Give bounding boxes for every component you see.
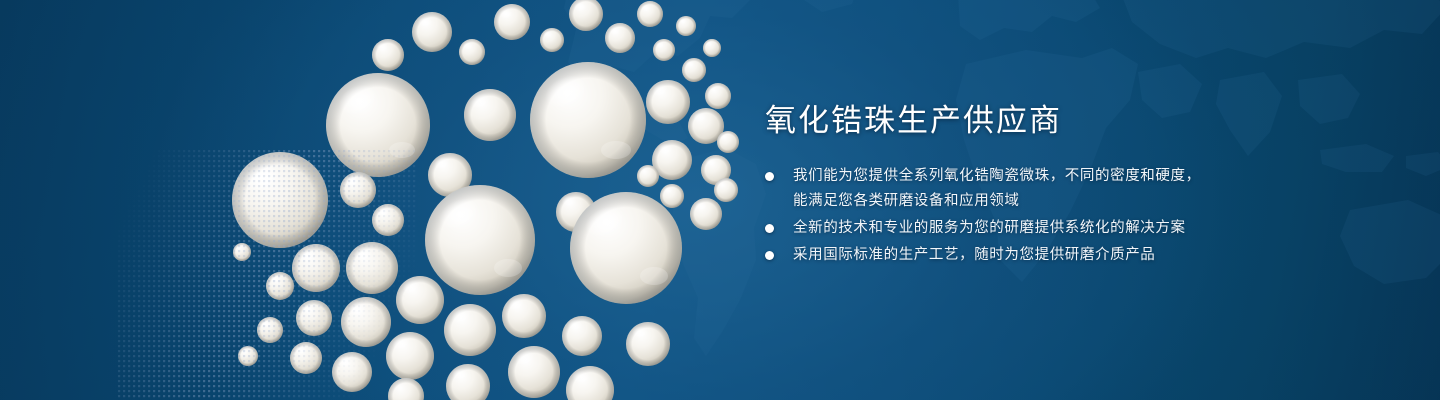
bullet-dot-icon xyxy=(765,224,774,233)
bullet-dot-icon xyxy=(765,172,774,181)
page-title: 氧化锆珠生产供应商 xyxy=(765,104,1405,138)
list-item: 全新的技术和专业的服务为您的研磨提供系统化的解决方案 xyxy=(765,216,1405,241)
list-item: 我们能为您提供全系列氧化锆陶瓷微珠，不同的密度和硬度， 能满足您各类研磨设备和应… xyxy=(765,164,1405,214)
hero-banner: 氧化锆珠生产供应商 我们能为您提供全系列氧化锆陶瓷微珠，不同的密度和硬度， 能满… xyxy=(0,0,1440,400)
feature-list: 我们能为您提供全系列氧化锆陶瓷微珠，不同的密度和硬度， 能满足您各类研磨设备和应… xyxy=(765,164,1405,268)
bullet-dot-icon xyxy=(765,251,774,260)
list-item-line: 全新的技术和专业的服务为您的研磨提供系统化的解决方案 xyxy=(793,216,1405,241)
list-item: 采用国际标准的生产工艺，随时为您提供研磨介质产品 xyxy=(765,243,1405,268)
list-item-line: 采用国际标准的生产工艺，随时为您提供研磨介质产品 xyxy=(793,243,1405,268)
banner-copy: 氧化锆珠生产供应商 我们能为您提供全系列氧化锆陶瓷微珠，不同的密度和硬度， 能满… xyxy=(765,104,1405,270)
list-item-line: 我们能为您提供全系列氧化锆陶瓷微珠，不同的密度和硬度， xyxy=(793,164,1405,189)
zirconia-beads-photo xyxy=(120,0,740,400)
list-item-line: 能满足您各类研磨设备和应用领域 xyxy=(793,189,1405,214)
